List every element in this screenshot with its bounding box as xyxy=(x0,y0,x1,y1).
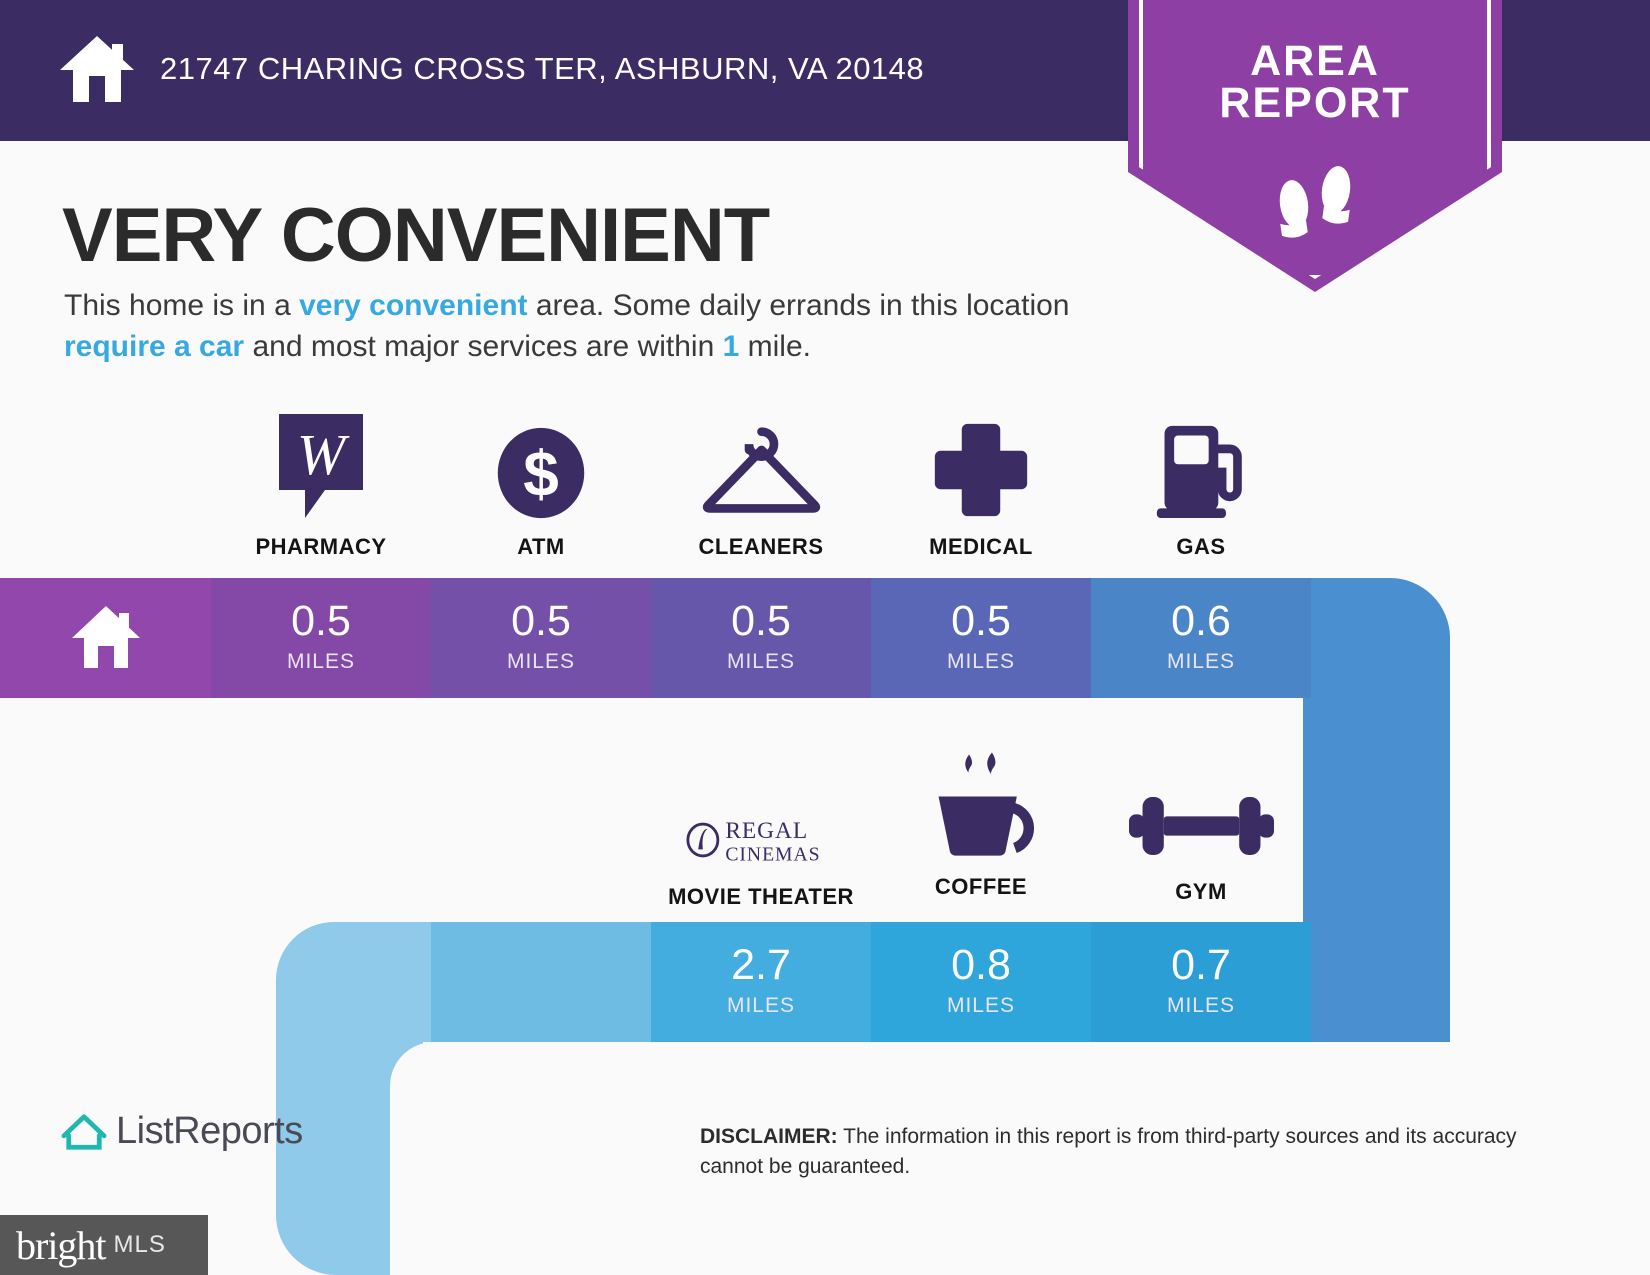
distance-segment-atm: 0.5 MILES xyxy=(431,578,651,698)
ribbon-row2-track: 2.7 MILES 0.8 MILES 0.7 MILES xyxy=(276,922,1450,1042)
page-title: VERY CONVENIENT xyxy=(62,192,769,279)
service-icon-gym: GYM xyxy=(1091,765,1311,905)
badge-line-1: AREA xyxy=(1128,40,1502,82)
distance-value: 0.5 xyxy=(431,600,651,643)
distance-segment-medical: 0.5 MILES xyxy=(871,578,1091,698)
summary-highlight-1: very convenient xyxy=(299,289,527,322)
distance-value: 0.7 xyxy=(1091,944,1311,987)
property-address: 21747 CHARING CROSS TER, ASHBURN, VA 201… xyxy=(160,51,924,87)
service-icon-atm: $ ATM xyxy=(431,420,651,560)
bright-mls-suffix: MLS xyxy=(114,1231,166,1259)
listreports-logo[interactable]: ListReports xyxy=(60,1110,303,1153)
svg-text:REGAL: REGAL xyxy=(725,818,808,844)
summary-text: This home is in a very convenient area. … xyxy=(64,286,1104,367)
distance-segment-cleaners: 0.5 MILES xyxy=(651,578,871,698)
summary-part-3: and most major services are within xyxy=(244,330,723,363)
distance-segment-gym: 0.7 MILES xyxy=(1091,922,1311,1042)
distance-value: 0.5 xyxy=(211,600,431,643)
service-label: GAS xyxy=(1091,534,1311,560)
service-label: COFFEE xyxy=(871,874,1091,900)
service-label: PHARMACY xyxy=(211,534,431,560)
distance-value: 0.8 xyxy=(871,944,1091,987)
summary-part-4: mile. xyxy=(739,330,811,363)
distance-unit: MILES xyxy=(871,994,1091,1018)
svg-text:W: W xyxy=(297,422,350,487)
clothes-hanger-icon xyxy=(651,420,871,520)
distance-value: 0.6 xyxy=(1091,600,1311,643)
dollar-circle-icon: $ xyxy=(431,420,651,520)
distance-unit: MILES xyxy=(1091,994,1311,1018)
service-icon-medical: MEDICAL xyxy=(871,420,1091,560)
listreports-house-icon xyxy=(60,1111,108,1153)
home-icon xyxy=(70,604,142,670)
service-icon-gas: GAS xyxy=(1091,420,1311,560)
distance-segment-coffee: 0.8 MILES xyxy=(871,922,1091,1042)
distance-segment-movie-theater: 2.7 MILES xyxy=(651,922,871,1042)
distance-segment-pharmacy: 0.5 MILES xyxy=(211,578,431,698)
service-icon-pharmacy: W PHARMACY xyxy=(211,420,431,560)
disclaimer-label: DISCLAIMER: xyxy=(700,1125,838,1148)
row2-seg-tail xyxy=(1311,922,1450,1042)
distance-value: 2.7 xyxy=(651,944,871,987)
service-icon-cleaners: CLEANERS xyxy=(651,420,871,560)
walgreens-logo-icon: W xyxy=(211,420,431,520)
summary-part-2: area. Some daily errands in this locatio… xyxy=(528,289,1070,322)
distance-unit: MILES xyxy=(871,650,1091,674)
listreports-wordmark: ListReports xyxy=(116,1110,303,1153)
disclaimer: DISCLAIMER: The information in this repo… xyxy=(700,1122,1520,1183)
summary-highlight-3: 1 xyxy=(723,330,740,363)
badge-title: AREA REPORT xyxy=(1128,40,1502,124)
service-icon-movie-theater: REGAL CINEMAS MOVIE THEATER xyxy=(651,770,871,910)
distance-segment-gas: 0.6 MILES xyxy=(1091,578,1311,698)
service-label: CLEANERS xyxy=(651,534,871,560)
service-label: MEDICAL xyxy=(871,534,1091,560)
area-report-infographic: 21747 CHARING CROSS TER, ASHBURN, VA 201… xyxy=(0,0,1650,1275)
summary-part-1: This home is in a xyxy=(64,289,299,322)
bright-mls-brand: bright xyxy=(16,1222,106,1269)
svg-text:CINEMAS: CINEMAS xyxy=(725,844,820,866)
dumbbell-icon xyxy=(1091,765,1311,865)
summary-highlight-2: require a car xyxy=(64,330,244,363)
medical-cross-icon xyxy=(871,420,1091,520)
regal-cinemas-logo-icon: REGAL CINEMAS xyxy=(651,770,871,870)
row2-seg-b xyxy=(431,922,651,1042)
badge-line-2: REPORT xyxy=(1128,82,1502,124)
ribbon-home-segment xyxy=(0,578,211,698)
distance-unit: MILES xyxy=(651,994,871,1018)
gas-pump-icon xyxy=(1091,420,1311,520)
service-label: ATM xyxy=(431,534,651,560)
distance-unit: MILES xyxy=(431,650,651,674)
service-label: GYM xyxy=(1091,879,1311,905)
distance-unit: MILES xyxy=(1091,650,1311,674)
svg-text:$: $ xyxy=(523,438,559,510)
distance-value: 0.5 xyxy=(871,600,1091,643)
distance-unit: MILES xyxy=(211,650,431,674)
bright-mls-watermark: bright MLS xyxy=(0,1215,208,1275)
service-icon-coffee: COFFEE xyxy=(871,760,1091,900)
distance-unit: MILES xyxy=(651,650,871,674)
service-label: MOVIE THEATER xyxy=(651,884,871,910)
distance-value: 0.5 xyxy=(651,600,871,643)
home-icon xyxy=(58,34,136,104)
coffee-cup-icon xyxy=(871,760,1091,860)
footprints-icon xyxy=(1262,160,1372,250)
